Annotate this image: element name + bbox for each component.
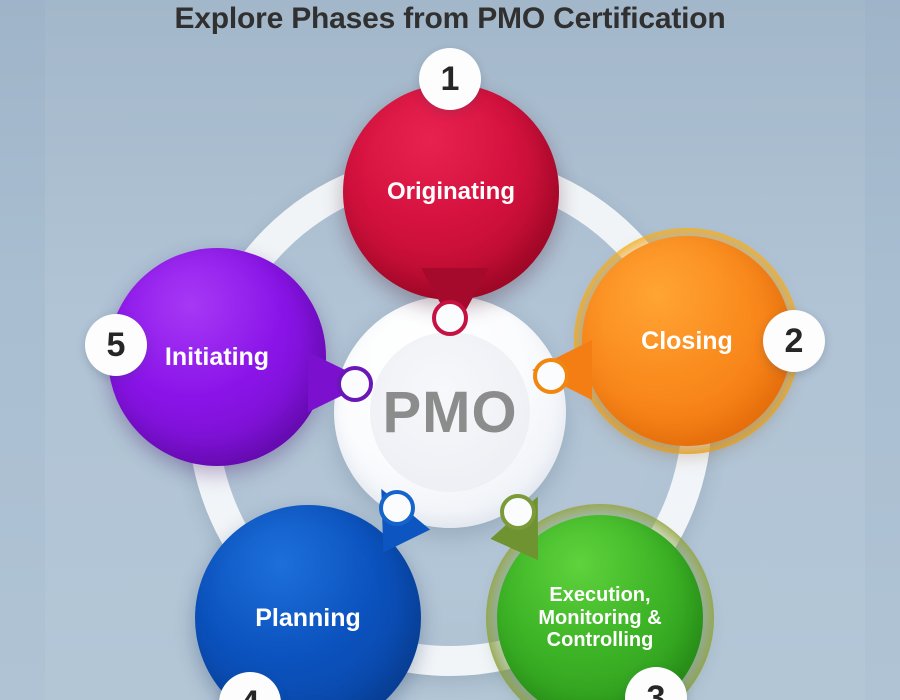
phase-badge-1: 1	[419, 48, 481, 110]
page-title: Explore Phases from PMO Certification	[0, 2, 900, 36]
originating-connector-ring	[432, 300, 468, 336]
phase-label-execution-line2: Monitoring &	[538, 607, 661, 629]
closing-connector-ring	[533, 358, 569, 394]
phase-label-closing: Closing	[631, 327, 743, 355]
phase-badge-5: 5	[85, 314, 147, 376]
initiating-connector-ring	[337, 366, 373, 402]
diagram-canvas: Explore Phases from PMO Certification PM…	[0, 0, 900, 700]
phase-badge-2: 2	[763, 310, 825, 372]
execution-connector-ring	[500, 494, 536, 530]
phase-bubble-closing[interactable]: Closing	[582, 236, 792, 446]
phase-label-initiating: Initiating	[155, 343, 279, 371]
phase-label-execution-line3: Controlling	[547, 629, 654, 651]
phase-label-planning: Planning	[245, 604, 371, 632]
phase-label-execution: Execution, Monitoring & Controlling	[528, 584, 671, 651]
planning-connector-ring	[379, 490, 415, 526]
phase-label-execution-line1: Execution,	[549, 584, 650, 606]
phase-label-originating: Originating	[377, 179, 525, 206]
